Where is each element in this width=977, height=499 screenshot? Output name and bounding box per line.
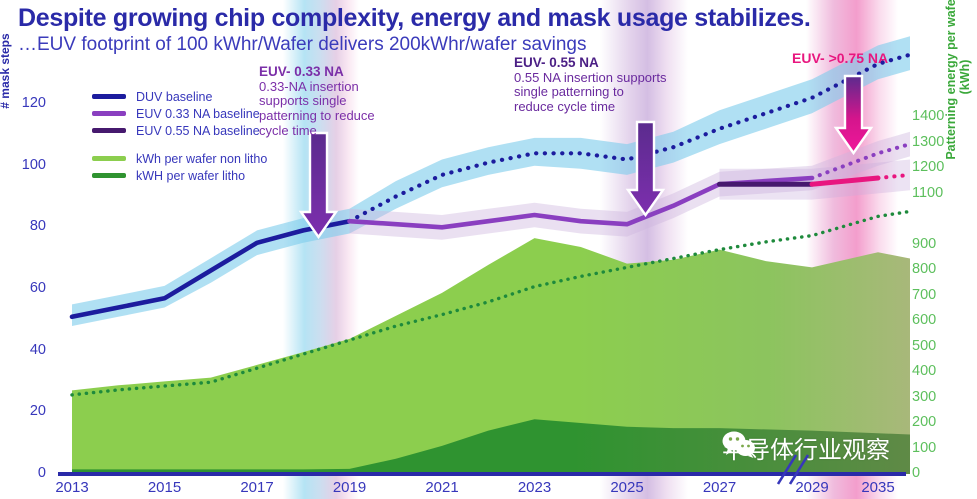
x-tick-2021: 2021 xyxy=(411,479,473,496)
y-right-tick-800: 800 xyxy=(912,262,958,277)
y-left-tick-20: 20 xyxy=(0,404,46,419)
legend-label: EUV 0.33 NA baseline xyxy=(136,107,260,121)
annotation-line-0: 0.55 NA insertion supports xyxy=(514,71,666,86)
legend-item-1[interactable]: EUV 0.33 NA baseline xyxy=(92,105,267,122)
x-tick-2015: 2015 xyxy=(134,479,196,496)
annotation-line-2: reduce cycle time xyxy=(514,100,666,115)
legend-swatch-icon xyxy=(92,94,126,99)
legend-item-3[interactable]: kWh per wafer non litho xyxy=(92,150,267,167)
annotation-line-1: single patterning to xyxy=(514,85,666,100)
y-left-tick-60: 60 xyxy=(0,281,46,296)
annotation-euv-075: EUV- >0.75 NA xyxy=(792,50,888,66)
legend-item-2[interactable]: EUV 0.55 NA baseline xyxy=(92,122,267,139)
annotation-euv-033-heading: EUV- 0.33 NA xyxy=(259,64,375,80)
chart-legend: DUV baselineEUV 0.33 NA baselineEUV 0.55… xyxy=(92,88,267,184)
y-right-tick-500: 500 xyxy=(912,339,958,354)
x-tick-2019: 2019 xyxy=(319,479,381,496)
annotation-euv-055-body: 0.55 NA insertion supportssingle pattern… xyxy=(514,71,666,116)
y-left-tick-120: 120 xyxy=(0,96,46,111)
annotation-line-3: cycle time xyxy=(259,124,375,139)
y-right-tick-300: 300 xyxy=(912,390,958,405)
y-right-tick-600: 600 xyxy=(912,313,958,328)
watermark: 半导体行业观察 xyxy=(722,430,890,465)
y-right-tick-1300: 1300 xyxy=(912,135,958,150)
legend-swatch-icon xyxy=(92,156,126,161)
annotation-line-2: patterning to reduce xyxy=(259,109,375,124)
annotation-euv-033-body: 0.33-NA insertionsupports singlepatterni… xyxy=(259,80,375,140)
x-tick-2023: 2023 xyxy=(504,479,566,496)
page-title: Despite growing chip complexity, energy … xyxy=(18,4,810,33)
x-tick-2017: 2017 xyxy=(226,479,288,496)
y-right-tick-100: 100 xyxy=(912,441,958,456)
annotation-euv-055-heading: EUV- 0.55 NA xyxy=(514,55,666,71)
y-right-tick-900: 900 xyxy=(912,237,958,252)
y-right-tick-1100: 1100 xyxy=(912,186,958,201)
legend-label: DUV baseline xyxy=(136,90,212,104)
legend-item-0[interactable]: DUV baseline xyxy=(92,88,267,105)
page-subtitle: …EUV footprint of 100 kWhr/Wafer deliver… xyxy=(18,34,586,56)
legend-swatch-icon xyxy=(92,111,126,116)
y-right-tick-1200: 1200 xyxy=(912,160,958,175)
wechat-icon xyxy=(722,430,756,458)
y-left-tick-80: 80 xyxy=(0,219,46,234)
legend-swatch-icon xyxy=(92,173,126,178)
y-left-tick-40: 40 xyxy=(0,343,46,358)
annotation-euv-075-heading: EUV- >0.75 NA xyxy=(792,50,888,66)
arrow-euv-033 xyxy=(301,133,336,237)
annotation-euv-033: EUV- 0.33 NA 0.33-NA insertionsupports s… xyxy=(259,64,375,139)
annotation-line-1: supports single xyxy=(259,94,375,109)
annotation-euv-055: EUV- 0.55 NA 0.55 NA insertion supportss… xyxy=(514,55,666,115)
x-tick-2013: 2013 xyxy=(41,479,103,496)
y-right-tick-1400: 1400 xyxy=(912,109,958,124)
y-right-tick-400: 400 xyxy=(912,364,958,379)
x-tick-2029: 2029 xyxy=(781,479,843,496)
legend-label: kWH per wafer litho xyxy=(136,169,245,183)
legend-label: EUV 0.55 NA baseline xyxy=(136,124,260,138)
y-right-tick-0: 0 xyxy=(912,466,958,481)
x-tick-2027: 2027 xyxy=(689,479,751,496)
y-right-tick-700: 700 xyxy=(912,288,958,303)
chart-canvas: Despite growing chip complexity, energy … xyxy=(0,0,977,499)
legend-item-4[interactable]: kWH per wafer litho xyxy=(92,167,267,184)
legend-swatch-icon xyxy=(92,128,126,133)
y-left-tick-0: 0 xyxy=(0,466,46,481)
legend-gap xyxy=(92,139,267,150)
x-tick-2035: 2035 xyxy=(847,479,909,496)
annotation-line-0: 0.33-NA insertion xyxy=(259,80,375,95)
y-axis-left-title: # mask steps xyxy=(0,0,12,146)
y-right-tick-200: 200 xyxy=(912,415,958,430)
plot-area xyxy=(0,0,977,499)
x-tick-2025: 2025 xyxy=(596,479,658,496)
y-left-tick-100: 100 xyxy=(0,158,46,173)
legend-label: kWh per wafer non litho xyxy=(136,152,267,166)
